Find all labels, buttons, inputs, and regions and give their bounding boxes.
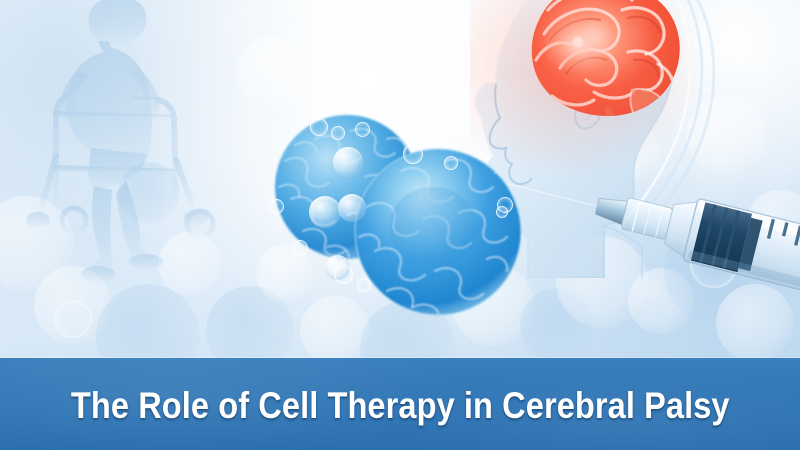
bubble bbox=[496, 206, 508, 218]
bubble bbox=[355, 122, 370, 137]
bubble bbox=[310, 118, 328, 136]
bubble bbox=[269, 199, 284, 214]
bubble bbox=[331, 126, 345, 140]
child-with-walker-silhouette bbox=[8, 0, 258, 286]
bokeh-ring bbox=[54, 300, 92, 338]
page-title: The Role of Cell Therapy in Cerebral Pal… bbox=[71, 384, 730, 424]
bubble bbox=[309, 196, 341, 228]
bubble bbox=[338, 194, 366, 222]
bubble bbox=[292, 240, 308, 256]
bokeh-circle bbox=[316, 10, 372, 66]
bubble bbox=[334, 265, 353, 284]
title-banner: The Role of Cell Therapy in Cerebral Pal… bbox=[0, 358, 800, 450]
bokeh-circle bbox=[716, 284, 794, 362]
poster-root: The Role of Cell Therapy in Cerebral Pal… bbox=[0, 0, 800, 450]
bubble bbox=[333, 147, 363, 177]
bubble bbox=[403, 144, 423, 164]
bubble bbox=[357, 278, 371, 292]
bubble bbox=[444, 156, 458, 170]
stem-cell-spheres bbox=[255, 95, 555, 335]
